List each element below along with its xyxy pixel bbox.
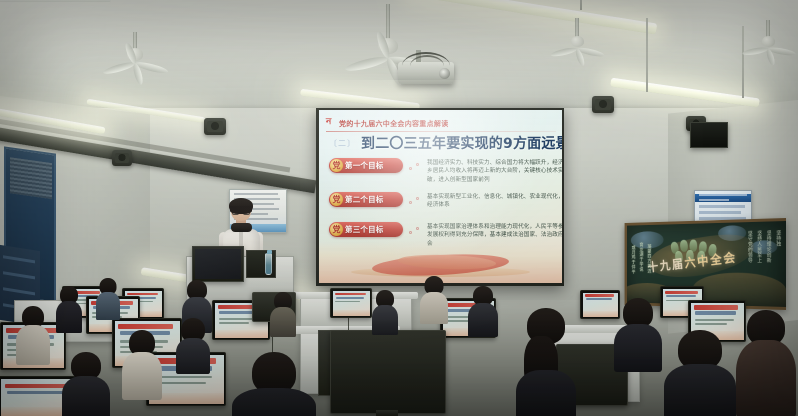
- podium-monitor: [192, 246, 244, 282]
- student: [664, 330, 736, 416]
- party-emblem-icon: 党: [330, 159, 343, 172]
- student: [736, 310, 796, 416]
- student: [96, 278, 120, 316]
- student: [176, 318, 210, 370]
- goal-connector: [408, 192, 422, 207]
- goal-pill: 党 第三个目标: [329, 222, 403, 237]
- ceiling-fan-icon: [100, 32, 170, 78]
- party-emblem-icon: [326, 119, 335, 128]
- student: [420, 276, 448, 320]
- podium-surface: [0, 0, 111, 2]
- goal-body-line: 乡居民人均收入将再迈上新的大台阶，关键核心技术实现重大突: [427, 167, 562, 175]
- goal-body-line: 基本实现国家治理体系和治理能力现代化，人民平等参与、平等: [427, 223, 562, 231]
- student: [614, 298, 662, 368]
- goal-body-line: 发展权利得到充分保障，基本建成法治国家、法治政府、法治社: [427, 231, 562, 239]
- party-emblem-icon: 党: [330, 223, 343, 236]
- speaker-icon: [112, 150, 132, 166]
- goal-pill: 党 第一个目标: [329, 158, 403, 173]
- student: [122, 330, 162, 396]
- projection-screen: 党的十九届六中全会内容重点解读 〔二〕 到二〇三五年要实现的9方面远景目标 党 …: [316, 108, 564, 286]
- door-vent: [10, 157, 52, 199]
- chalkboard-left-text: 或月鸡于伴平: [630, 245, 635, 293]
- ceiling-fan-icon: [548, 18, 606, 62]
- chalkboard-display: 十九届六中全会 或月鸡于伴平 育龙湖于学说 凝聚四方英迈 坚守党的领导 坚持人民…: [625, 218, 786, 310]
- student: [372, 290, 398, 330]
- chalkboard-right-text: 坚守党的领导 坚持人民至上 坚持理论创新 坚持独: [746, 230, 781, 263]
- presenter-scarf: [231, 223, 252, 232]
- goal-row: 党 第一个目标 我国经济实力、科技实力、综合国力将大幅跃升，经济总量和城 乡居民…: [329, 158, 554, 184]
- slide-title-tag: 〔二〕: [329, 138, 356, 149]
- goal-body-line: 我国经济实力、科技实力、综合国力将大幅跃升，经济总量和城: [427, 159, 562, 167]
- slide-title: 到二〇三五年要实现的9方面远景目标: [361, 133, 562, 153]
- party-emblem-icon: 党: [330, 193, 343, 206]
- light-hanger: [646, 18, 648, 92]
- ceiling-fan-icon: [740, 20, 796, 62]
- presenter-hair: [229, 198, 253, 213]
- light-hanger: [580, 0, 582, 10]
- monitor-stand: [376, 410, 398, 416]
- goal-pill: 党 第二个目标: [329, 192, 403, 207]
- slide-title-row: 〔二〕 到二〇三五年要实现的9方面远景目标: [329, 134, 554, 152]
- goal-body-line: 基本实现新型工业化、信息化、城镇化、农业现代化，建成现代化: [427, 193, 562, 201]
- ribbon-decoration: [334, 253, 548, 277]
- goal-body-line: 经济体系: [427, 201, 562, 209]
- classroom-scene: 党的十九届六中全会内容重点解读 〔二〕 到二〇三五年要实现的9方面远景目标 党 …: [0, 0, 798, 416]
- student: [468, 286, 498, 332]
- student: [270, 292, 296, 332]
- goal-row: 党 第二个目标 基本实现新型工业化、信息化、城镇化、农业现代化，建成现代化 经济…: [329, 192, 554, 210]
- water-bottle-icon: [265, 253, 272, 275]
- slide-header-text: 党的十九届六中全会内容重点解读: [339, 119, 449, 129]
- slide-surface: 党的十九届六中全会内容重点解读 〔二〕 到二〇三五年要实现的9方面远景目标 党 …: [319, 110, 562, 283]
- projector-lens: [439, 68, 450, 79]
- goal-connector: [408, 222, 422, 237]
- student: [56, 286, 82, 330]
- monitor-back: [330, 330, 446, 414]
- chalkboard-left-text: 育龙湖于学说: [638, 242, 644, 293]
- goal-connector: [408, 158, 422, 173]
- student: [62, 352, 110, 416]
- goal-label: 第一个目标: [345, 160, 384, 171]
- chalkboard-left-text: 凝聚四方英迈: [646, 244, 652, 291]
- student: [16, 306, 50, 360]
- goal-body: 我国经济实力、科技实力、综合国力将大幅跃升，经济总量和城 乡居民人均收入将再迈上…: [427, 158, 562, 184]
- goal-label: 第二个目标: [345, 194, 384, 205]
- header-divider: [326, 131, 556, 132]
- speaker-icon: [592, 96, 614, 113]
- student: [516, 308, 576, 416]
- student: [232, 352, 316, 416]
- student-monitor: [330, 288, 372, 318]
- goal-body-line: 破，进入创新型国家前列: [427, 176, 562, 184]
- wall-monitor: [690, 122, 728, 148]
- speaker-icon: [204, 118, 226, 135]
- goal-body: 基本实现新型工业化、信息化、城镇化、农业现代化，建成现代化 经济体系: [427, 192, 562, 210]
- slide-header: 党的十九届六中全会内容重点解读: [326, 117, 556, 130]
- goal-label: 第三个目标: [345, 224, 384, 235]
